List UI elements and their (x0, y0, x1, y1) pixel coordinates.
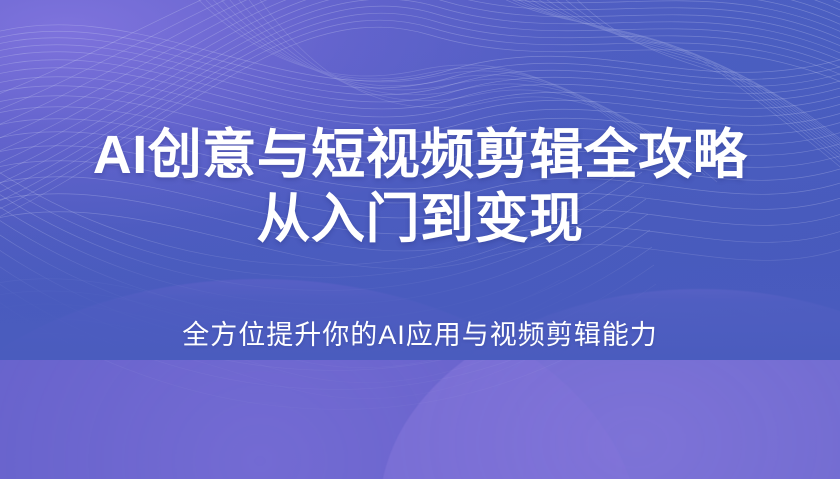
promo-poster: AI创意与短视频剪辑全攻略 从入门到变现 全方位提升你的AI应用与视频剪辑能力 (0, 0, 840, 479)
page-title: AI创意与短视频剪辑全攻略 从入门到变现 (93, 122, 748, 252)
subtitle: 全方位提升你的AI应用与视频剪辑能力 (182, 318, 658, 352)
title-line-2: 从入门到变现 (93, 186, 748, 252)
poster-content: AI创意与短视频剪辑全攻略 从入门到变现 全方位提升你的AI应用与视频剪辑能力 (0, 0, 840, 479)
title-line-1: AI创意与短视频剪辑全攻略 (93, 122, 748, 188)
